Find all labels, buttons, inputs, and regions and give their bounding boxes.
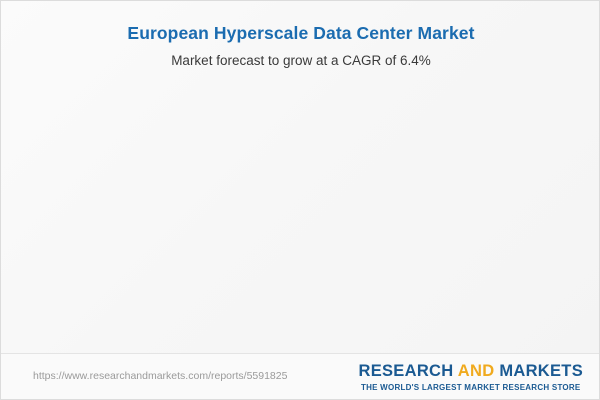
source-url[interactable]: https://www.researchandmarkets.com/repor… [33, 370, 287, 382]
logo-markets-text: MARKETS [499, 362, 583, 380]
logo-wordmark: RESEARCH AND MARKETS [358, 362, 583, 381]
logo-tagline: THE WORLD'S LARGEST MARKET RESEARCH STOR… [358, 383, 583, 392]
logo-research-text: RESEARCH [358, 362, 453, 380]
logo-and-text: AND [458, 362, 495, 380]
brand-logo[interactable]: RESEARCH AND MARKETS THE WORLD'S LARGEST… [358, 362, 583, 392]
chart-plot-area: USD 31.39 Billion 2023 USD 45.65 Billion [1, 1, 600, 353]
infographic-card: European Hyperscale Data Center Market M… [0, 0, 600, 400]
footer: https://www.researchandmarkets.com/repor… [1, 353, 600, 400]
